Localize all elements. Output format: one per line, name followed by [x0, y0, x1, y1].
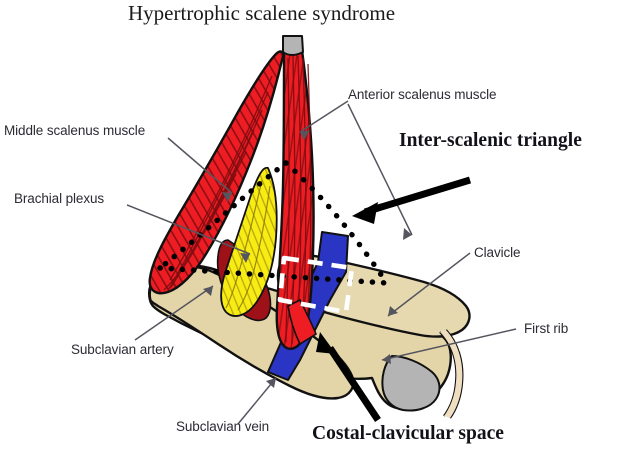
- figure-title: Hypertrophic scalene syndrome: [128, 3, 395, 24]
- label-first-rib: First rib: [524, 322, 568, 336]
- label-anterior-scalenus-muscle: Anterior scalenus muscle: [348, 88, 496, 102]
- label-brachial-plexus: Brachial plexus: [14, 192, 104, 206]
- label-clavicle: Clavicle: [474, 246, 520, 260]
- label-subclavian-vein: Subclavian vein: [176, 420, 269, 434]
- label-inter-scalenic-triangle: Inter-scalenic triangle: [399, 131, 582, 151]
- scalene-tendon-cap: [283, 36, 303, 55]
- leader-subclavian-vein: [238, 378, 276, 424]
- inter-scalenic-triangle-arrow: [352, 180, 470, 224]
- label-costal-clavicular-space: Costal-clavicular space: [312, 424, 504, 444]
- anatomy-illustration: [0, 0, 644, 453]
- label-middle-scalenus-muscle: Middle scalenus muscle: [4, 124, 145, 138]
- figure-container: Hypertrophic scalene syndrome Anterior s…: [0, 0, 644, 453]
- label-subclavian-artery: Subclavian artery: [71, 343, 174, 357]
